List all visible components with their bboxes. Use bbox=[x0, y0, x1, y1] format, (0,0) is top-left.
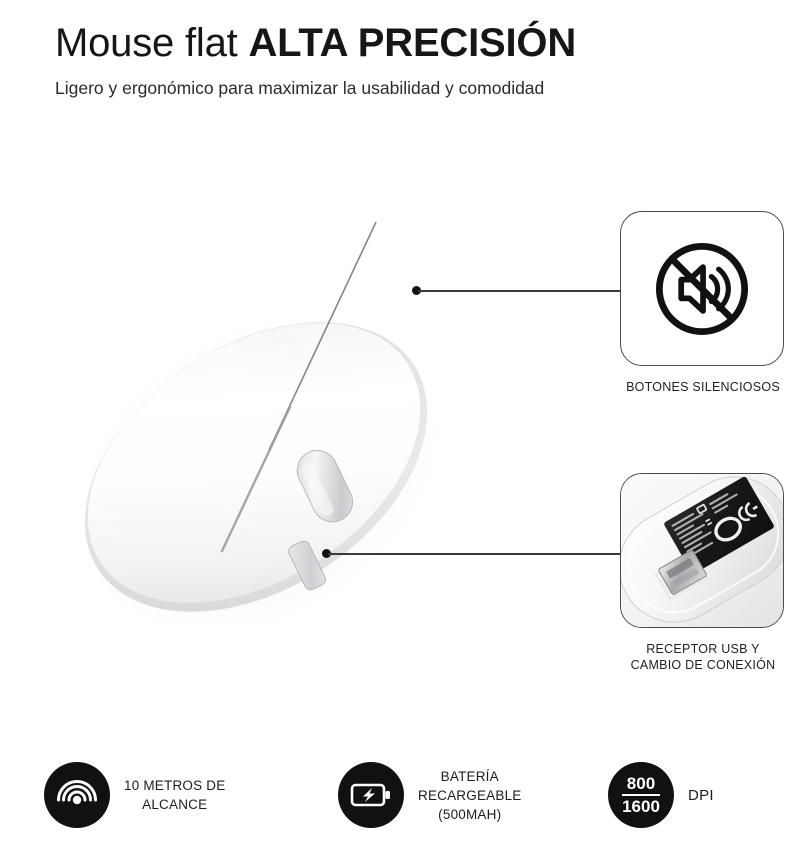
feature-dpi-badge: 800 1600 bbox=[608, 762, 674, 828]
feature-battery[interactable]: BATERÍA RECARGEABLE (500MAH) bbox=[338, 762, 521, 828]
dpi-value-high: 1600 bbox=[622, 796, 660, 815]
product-photo-mouse bbox=[28, 175, 498, 625]
connector-line-bottom bbox=[328, 553, 622, 555]
callout-silent-buttons-caption: BOTONES SILENCIOSOS bbox=[620, 379, 786, 395]
callout-usb-receiver-box bbox=[620, 473, 784, 628]
feature-range-badge bbox=[44, 762, 110, 828]
product-feature-sheet: Mouse flat ALTA PRECISIÓN Ligero y ergon… bbox=[0, 0, 797, 843]
wireless-signal-icon bbox=[57, 775, 97, 815]
callout-usb-receiver[interactable]: RECEPTOR USB Y CAMBIO DE CONEXIÓN bbox=[620, 473, 786, 673]
mute-speaker-icon bbox=[650, 237, 754, 341]
header: Mouse flat ALTA PRECISIÓN Ligero y ergon… bbox=[55, 18, 755, 100]
page-title-bold: ALTA PRECISIÓN bbox=[248, 21, 576, 65]
callout-silent-buttons-box bbox=[620, 211, 784, 366]
feature-battery-label: BATERÍA RECARGEABLE (500MAH) bbox=[418, 767, 521, 824]
feature-range[interactable]: 10 METROS DE ALCANCE bbox=[44, 762, 225, 828]
page-subtitle: Ligero y ergonómico para maximizar la us… bbox=[55, 76, 755, 100]
callout-silent-buttons[interactable]: BOTONES SILENCIOSOS bbox=[620, 211, 786, 395]
callout-usb-receiver-caption: RECEPTOR USB Y CAMBIO DE CONEXIÓN bbox=[620, 641, 786, 673]
feature-strip: 10 METROS DE ALCANCE BATERÍA RECARGEABLE… bbox=[0, 752, 797, 842]
dpi-value-low: 800 bbox=[622, 775, 660, 796]
feature-dpi[interactable]: 800 1600 DPI bbox=[608, 762, 714, 828]
feature-battery-badge bbox=[338, 762, 404, 828]
dpi-fraction: 800 1600 bbox=[622, 775, 660, 815]
rechargeable-battery-icon bbox=[350, 781, 392, 809]
page-title-light: Mouse flat bbox=[55, 21, 248, 65]
connector-line-top bbox=[418, 290, 622, 292]
feature-range-label: 10 METROS DE ALCANCE bbox=[124, 776, 225, 814]
feature-dpi-label: DPI bbox=[688, 787, 714, 804]
mouse-underside-usb-photo bbox=[621, 474, 783, 627]
page-title: Mouse flat ALTA PRECISIÓN bbox=[55, 18, 755, 68]
